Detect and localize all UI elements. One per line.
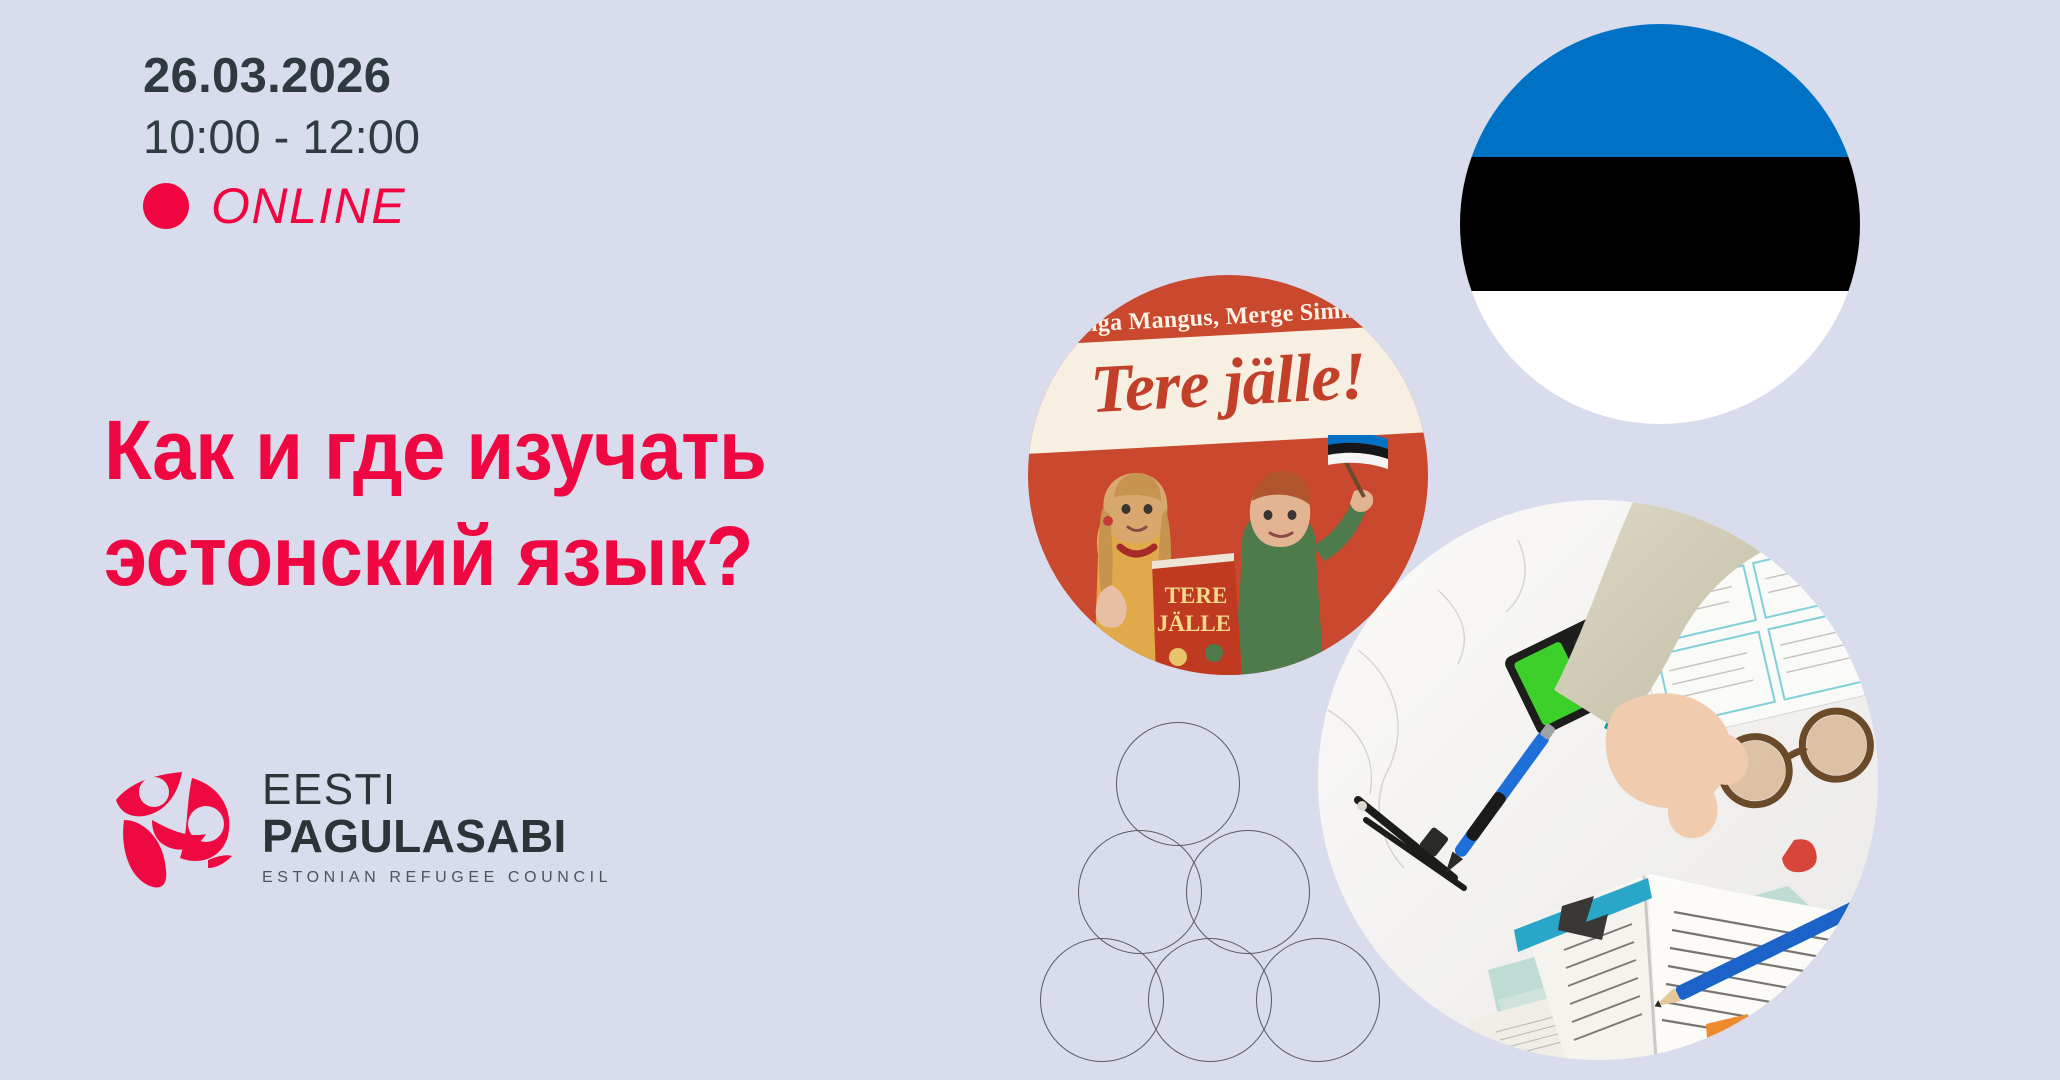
left-content-column: 26.03.2026 10:00 - 12:00 ONLINE Как и гд…: [0, 0, 1000, 1080]
outline-circle: [1078, 830, 1202, 954]
red-dot-icon: [143, 183, 189, 229]
page-title-line-2: эстонский язык?: [104, 504, 904, 610]
flag-band-black: [1460, 157, 1860, 290]
event-format-label: ONLINE: [211, 181, 406, 231]
outline-circles-cluster: [1078, 722, 1418, 1062]
outline-circle: [1116, 722, 1240, 846]
logo-line-pagulasabi: PAGULASABI: [262, 813, 612, 861]
svg-text:JÄLLE: JÄLLE: [1157, 611, 1231, 636]
event-format-row: ONLINE: [143, 181, 703, 231]
outline-circle: [1186, 830, 1310, 954]
outline-circle: [1256, 938, 1380, 1062]
refugee-council-people-icon: [108, 758, 240, 890]
tere-jalle-book-cover-circle: Inga Mangus, Merge Simmul Tere jälle!: [1028, 275, 1428, 675]
page-title-line-1: Как и где изучать: [104, 398, 904, 504]
page-title: Как и где изучать эстонский язык?: [104, 398, 904, 610]
event-time: 10:00 - 12:00: [143, 108, 703, 165]
flag-band-blue: [1460, 24, 1860, 157]
outline-circle: [1148, 938, 1272, 1062]
event-date: 26.03.2026: [143, 48, 703, 106]
event-datetime-block: 26.03.2026 10:00 - 12:00 ONLINE: [143, 48, 703, 231]
svg-text:TERE: TERE: [1165, 583, 1228, 608]
logo-line-eesti: EESTI: [262, 765, 397, 814]
estonia-flag-circle: [1460, 24, 1860, 424]
organization-logo-text: EESTI PAGULASABI ESTONIAN REFUGEE COUNCI…: [262, 762, 612, 886]
flag-band-white: [1460, 291, 1860, 424]
logo-line-english: ESTONIAN REFUGEE COUNCIL: [262, 870, 612, 886]
poster-canvas: 26.03.2026 10:00 - 12:00 ONLINE Как и гд…: [0, 0, 2060, 1080]
outline-circle: [1040, 938, 1164, 1062]
organization-logo: EESTI PAGULASABI ESTONIAN REFUGEE COUNCI…: [108, 758, 612, 890]
